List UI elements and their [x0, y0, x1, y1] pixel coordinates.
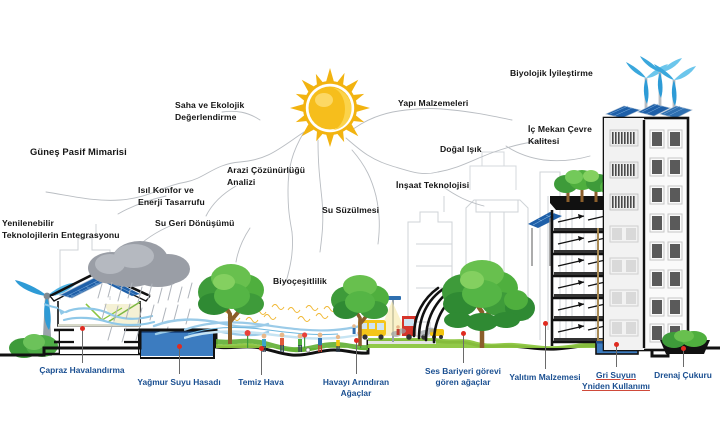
concept-label: İnşaat Teknolojisi — [396, 180, 496, 192]
callout-line — [463, 333, 464, 363]
concept-label: Güneş Pasif Mimarisi — [30, 146, 160, 158]
callout-dot — [80, 326, 85, 331]
concept-label: Isıl Konfor ve Enerji Tasarrufu — [138, 185, 248, 208]
concept-label: Biyoçeşitlilik — [273, 276, 353, 288]
callout-line — [179, 346, 180, 374]
concept-label: İç Mekan Çevre Kalitesi — [528, 124, 628, 147]
callout-line — [261, 348, 262, 375]
feature-label: Temiz Hava — [221, 377, 301, 388]
concept-label: Yenilenebilir Teknolojilerin Entegrasyon… — [2, 218, 152, 241]
concept-label: Doğal Işık — [440, 144, 510, 156]
callout-line — [545, 323, 546, 369]
feature-label: Çapraz Havalandırma — [17, 365, 147, 376]
callout-dot — [461, 331, 466, 336]
callout-dot — [354, 338, 359, 343]
concept-label: Arazi Çözünürlüğü Analizi — [227, 165, 337, 188]
feature-label: Drenaj Çukuru — [643, 370, 720, 381]
feature-label: Havayı Arındıran Ağaçlar — [306, 377, 406, 398]
callout-dot — [543, 321, 548, 326]
tree-acoustic-barrier-icon — [438, 258, 538, 350]
apartment-tower — [596, 54, 706, 354]
concept-label: Biyolojik İyileştirme — [510, 68, 630, 80]
callout-dot — [177, 344, 182, 349]
drainage-pit-icon — [654, 330, 716, 358]
concept-label: Saha ve Ekolojik Değerlendirme — [175, 100, 285, 123]
callout-line — [616, 344, 617, 367]
concept-label: Yapı Malzemeleri — [398, 98, 498, 110]
callout-line — [356, 340, 357, 374]
callout-line — [82, 328, 83, 363]
callout-dot — [259, 346, 264, 351]
concept-label: Su Süzülmesi — [322, 205, 412, 217]
concept-label: Su Geri Dönüşümü — [155, 218, 265, 230]
infographic-canvas: Güneş Pasif MimarisiYenilenebilir Teknol… — [0, 0, 720, 427]
callout-dot — [614, 342, 619, 347]
callout-dot — [681, 346, 686, 351]
